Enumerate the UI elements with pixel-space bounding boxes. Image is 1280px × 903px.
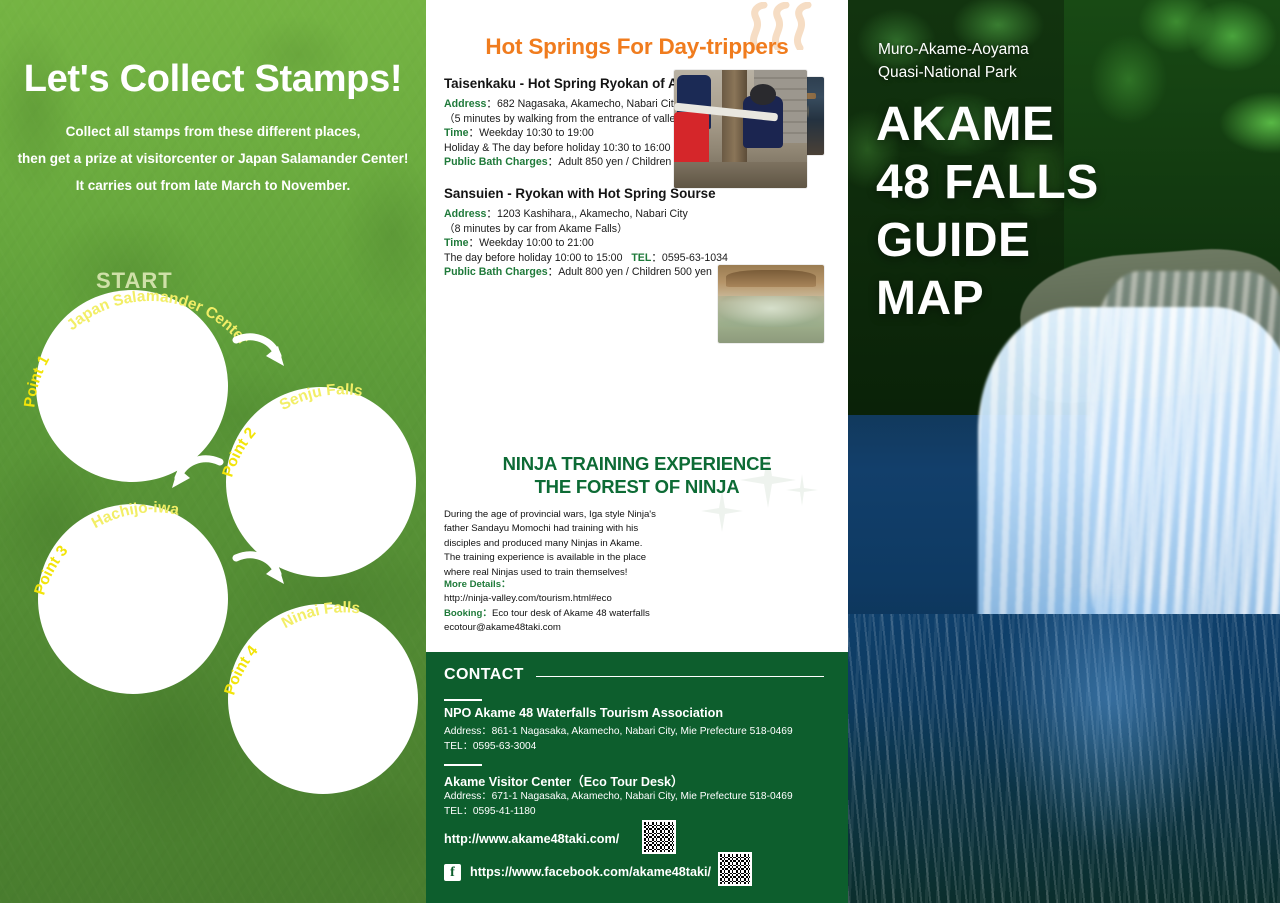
facebook-icon: f [444,864,461,881]
hot-springs-heading: Hot Springs For Day-trippers [426,34,848,60]
contact-org-2-address-label: Address [444,791,481,802]
ninja-more-details-url[interactable]: http://ninja-valley.com/tourism.html#eco [444,592,659,606]
contact-org-2-tick [444,764,482,766]
cover-title-line-2: 48 FALLS [876,154,1099,212]
photo-ground [674,162,807,188]
stamps-subtitle-line-3: It carries out from late March to Novemb… [0,172,426,199]
contact-org-2-name: Akame Visitor Center（Eco Tour Desk） [444,771,684,790]
stamps-subtitle-line-1: Collect all stamps from these different … [0,118,426,145]
stamp-circle-point-2[interactable] [226,387,416,577]
qr-code-facebook[interactable] [718,852,752,886]
ninja-heading-line-2: THE FOREST OF NINJA [426,475,848,498]
stamp-rally-panel: Let's Collect Stamps! Collect all stamps… [0,0,426,903]
hot-spring-2-name: Sansuien - Ryokan with Hot Spring Sourse [444,186,832,201]
stamps-subtitle: Collect all stamps from these different … [0,118,426,199]
contact-org-1-name: NPO Akame 48 Waterfalls Tourism Associat… [444,706,723,720]
contact-org-1-address: 861-1 Nagasaka, Akamecho, Nabari City, M… [492,726,793,737]
hot-spring-2-charges: Adult 800 yen / Children 500 yen [558,266,712,278]
ninja-booking-email[interactable]: ecotour@akame48taki.com [444,621,659,635]
ninja-links: More Details： http://ninja-valley.com/to… [444,578,659,636]
hot-spring-1-time: Weekday 10:30 to 19:00 [479,127,594,139]
contact-heading-rule [536,676,824,677]
contact-org-2-address: 671-1 Nagasaka, Akamecho, Nabari City, M… [492,791,793,802]
hot-spring-2-address-label: Address [444,208,486,220]
ninja-heading: NINJA TRAINING EXPERIENCE THE FOREST OF … [426,452,848,498]
start-label: START [96,268,173,294]
hot-spring-2-address: 1203 Kashihara,, Akamecho, Nabari City [497,208,688,220]
contact-heading: CONTACT [444,666,524,684]
ninja-booking-value: Eco tour desk of Akame 48 waterfalls [492,608,650,619]
ninja-booking-label: Booking： [444,608,492,619]
ninja-description: During the age of provincial wars, Iga s… [444,508,659,580]
hot-spring-2-address-note: （8 minutes by car from Akame Falls） [444,222,832,237]
website-url[interactable]: http://www.akame48taki.com/ [444,832,619,846]
stamp-circle-point-4[interactable] [228,604,418,794]
hot-spring-1-time-label: Time [444,127,469,139]
contact-org-1-tick [444,699,482,701]
hot-spring-2-time-extra: The day before holiday 10:00 to 15:00 [444,252,622,264]
brochure-page: Let's Collect Stamps! Collect all stamps… [0,0,1280,903]
stamp-circle-point-3[interactable] [38,504,228,694]
cover-title: AKAME 48 FALLS GUIDE MAP [876,96,1099,328]
hot-spring-2-tel-label: TEL [631,252,651,264]
hot-spring-2-time-label: Time [444,237,469,249]
park-name-line-2: Quasi-National Park [878,61,1029,84]
ninja-heading-line-1: NINJA TRAINING EXPERIENCE [426,452,848,475]
stamps-title: Let's Collect Stamps! [0,58,426,101]
hot-spring-1-charges-label: Public Bath Charges [444,156,548,168]
hot-spring-1-address-label: Address [444,98,486,110]
contact-org-1-tel-label: TEL [444,741,463,752]
ninja-training-photo [674,70,807,188]
cover-title-line-1: AKAME [876,96,1099,154]
hot-spring-2-photo [718,265,824,343]
cover-title-line-3: GUIDE [876,212,1099,270]
contact-org-1-tel: 0595-63-3004 [473,741,536,752]
contact-org-1-lines: Address：861-1 Nagasaka, Akamecho, Nabari… [444,724,793,754]
cover-panel: Muro-Akame-Aoyama Quasi-National Park AK… [848,0,1280,903]
cover-pool-glow [995,596,1228,849]
park-name-line-1: Muro-Akame-Aoyama [878,38,1029,61]
contact-org-1-address-label: Address [444,726,481,737]
contact-org-2-tel-label: TEL [444,806,463,817]
qr-code-website[interactable] [642,820,676,854]
contact-org-2-lines: Address：671-1 Nagasaka, Akamecho, Nabari… [444,789,793,819]
contact-org-2-tel: 0595-41-1180 [473,806,536,817]
cover-title-line-4: MAP [876,270,1099,328]
hot-spring-1-address: 682 Nagasaka, Akamecho, Nabari City [497,98,679,110]
photo-instructor-bottom [674,112,709,169]
stamps-subtitle-line-2: then get a prize at visitorcenter or Jap… [0,145,426,172]
hot-spring-2-tel: 0595-63-1034 [662,252,728,264]
hot-spring-2-time: Weekday 10:00 to 21:00 [479,237,594,249]
stamp-circle-point-1[interactable] [36,290,228,482]
hot-spring-2-charges-label: Public Bath Charges [444,266,548,278]
park-name: Muro-Akame-Aoyama Quasi-National Park [878,38,1029,84]
ninja-more-details-label: More Details： [444,578,659,592]
hot-spring-1-time-extra: Holiday & The day before holiday 10:30 t… [444,142,671,154]
facebook-url[interactable]: https://www.facebook.com/akame48taki/ [470,865,711,879]
contact-section: CONTACT NPO Akame 48 Waterfalls Tourism … [426,652,848,903]
